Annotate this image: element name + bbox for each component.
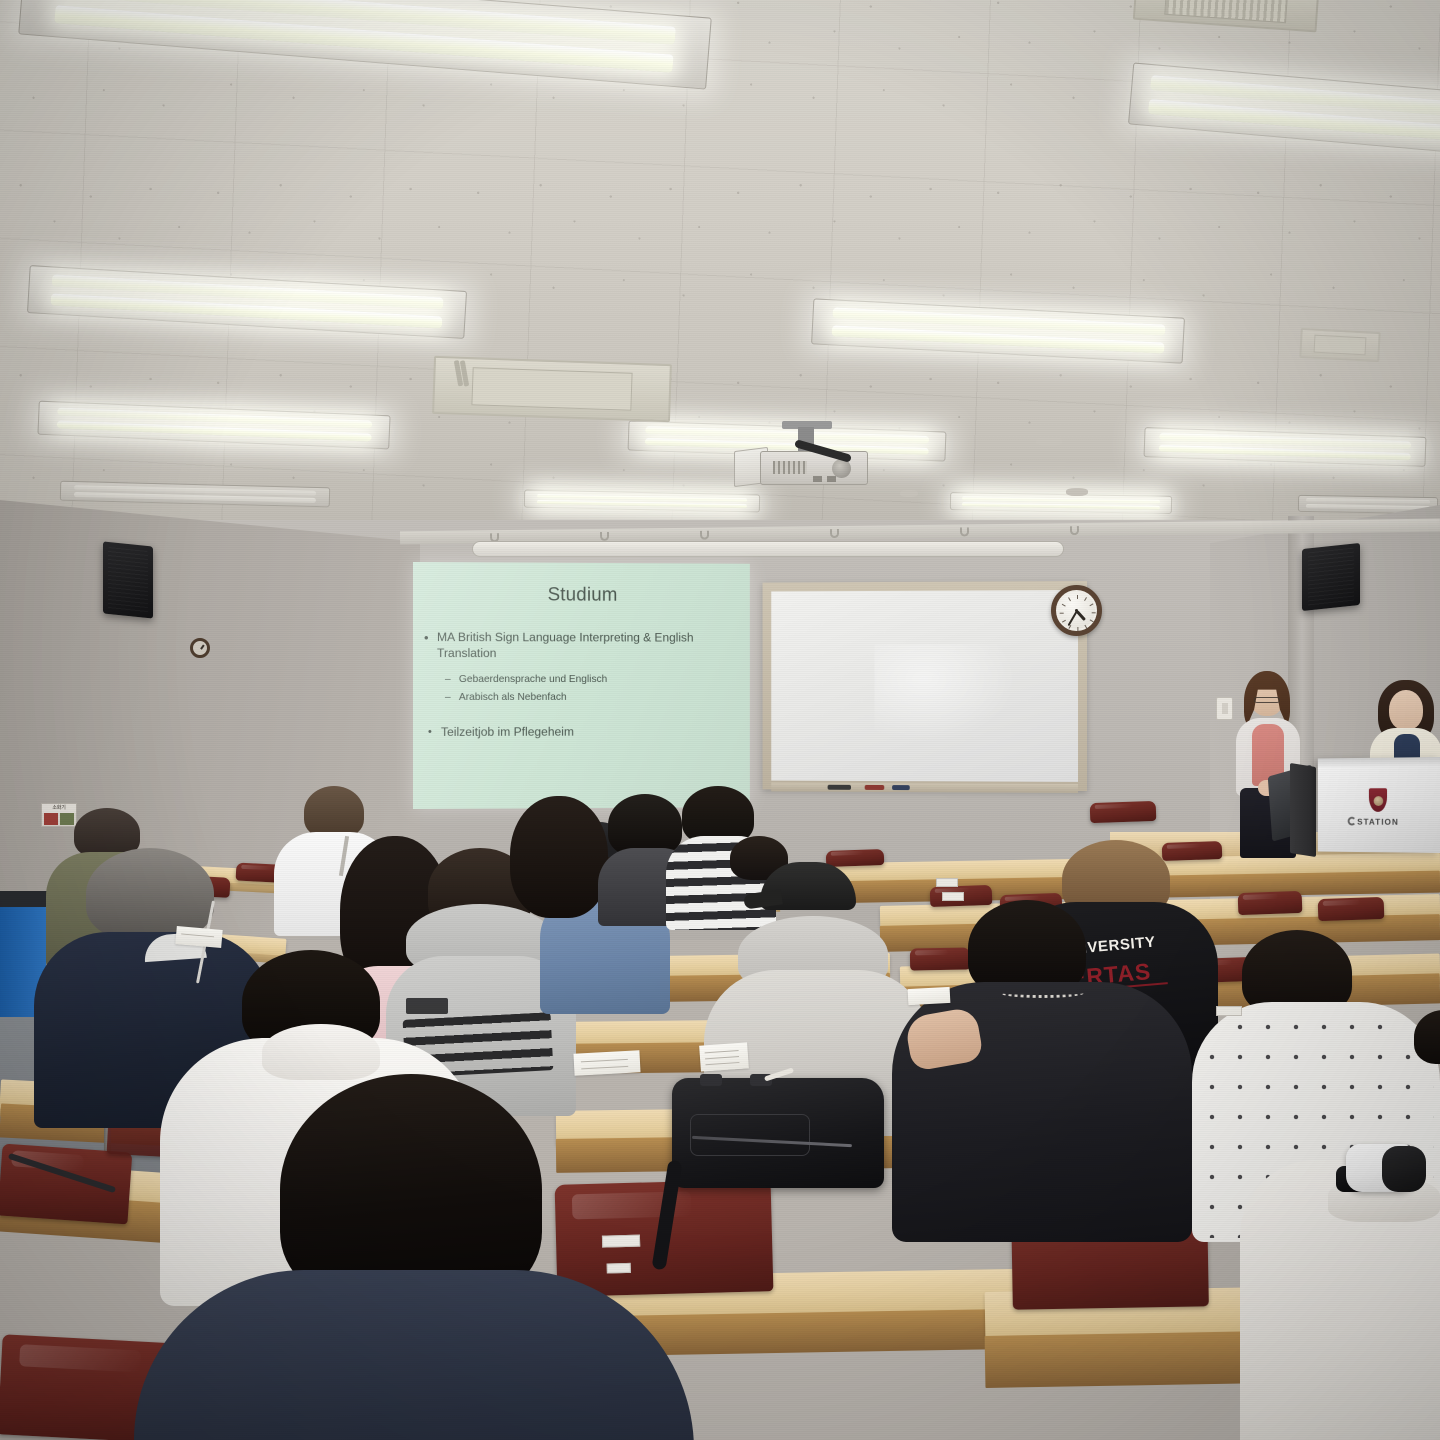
whiteboard-marker-tray	[771, 783, 1078, 793]
slide-subbullet-2-text: Arabisch als Nebenfach	[459, 692, 567, 703]
exit-arrow-icon	[60, 813, 74, 825]
projected-slide: Studium • MA British Sign Language Inter…	[413, 562, 750, 809]
desk-label-tag-3	[1216, 1006, 1242, 1016]
fire-extinguisher-sign: 소화기	[41, 803, 77, 827]
ceiling-sensor-3	[900, 490, 918, 497]
audience-hair-2	[86, 848, 214, 940]
necklace	[1000, 988, 1084, 998]
chair-far-2[interactable]	[1090, 801, 1157, 823]
ac-diffuser-1	[432, 356, 672, 422]
handout-paper-2[interactable]	[573, 1050, 640, 1075]
wall-outlet-1[interactable]	[1216, 697, 1233, 720]
projection-screen-housing[interactable]	[472, 541, 1064, 557]
podium[interactable]: STATION	[1318, 757, 1440, 853]
wall-speaker-right	[1302, 543, 1360, 611]
desk-label-tag-2	[942, 892, 964, 901]
backpack[interactable]	[672, 1078, 884, 1188]
bullet-marker-1: •	[424, 630, 429, 646]
vr-lens-housing	[1382, 1146, 1426, 1192]
chair-far-3[interactable]	[1162, 841, 1223, 861]
ceiling-light-10	[950, 492, 1172, 514]
ac-diffuser-3	[1299, 328, 1380, 362]
audience-hair-8	[608, 794, 682, 856]
chair-mid-4[interactable]	[910, 947, 970, 970]
whiteboard[interactable]	[763, 581, 1087, 791]
desk-label-tag-1	[936, 878, 958, 887]
slide-bullet-2-text: Teilzeitjob im Pflegeheim	[441, 725, 574, 739]
whiteboard-glare	[875, 644, 1016, 743]
handout-paper-4[interactable]	[908, 987, 951, 1005]
podium-presenter-head	[1389, 690, 1423, 730]
slide-bullet-2: • Teilzeitjob im Pflegeheim	[441, 725, 574, 739]
vr-headset[interactable]	[1330, 1138, 1438, 1216]
audience-hair-7	[510, 796, 608, 918]
slide-title: Studium	[413, 584, 750, 607]
wall-speaker-left	[103, 541, 153, 618]
clock-minute-hand	[1067, 610, 1077, 626]
handout-paper-1[interactable]	[699, 1042, 749, 1071]
slide-bullet-1-text: MA British Sign Language Interpreting & …	[437, 630, 694, 660]
projector-body	[760, 451, 868, 485]
chair-asset-tag-2	[607, 1263, 631, 1274]
hoodie-collar-15	[262, 1024, 380, 1080]
sub-marker-1: –	[445, 672, 451, 687]
backpack-buckle-1	[700, 1074, 722, 1086]
podium-logo-text: STATION	[1318, 817, 1440, 827]
university-crest-icon	[1368, 787, 1388, 813]
slide-bullet-1: • MA British Sign Language Interpreting …	[437, 629, 713, 661]
small-wall-clock-left	[190, 638, 210, 658]
marker-red[interactable]	[865, 785, 885, 790]
clock-face	[1058, 592, 1095, 629]
chair-far-6[interactable]	[1238, 891, 1303, 915]
presenter-glasses	[1254, 697, 1280, 703]
projector-vent	[773, 461, 807, 474]
marker-blue[interactable]	[892, 785, 910, 790]
audience-hair-18	[1414, 1010, 1440, 1064]
marker-black[interactable]	[828, 785, 851, 790]
ceiling-sensor-2	[1066, 488, 1088, 496]
fire-extinguisher-icon	[44, 813, 58, 825]
lecture-hall-photo: Studium • MA British Sign Language Inter…	[0, 0, 1440, 1440]
ceiling-sensor-1	[1036, 437, 1062, 446]
chair-far-7[interactable]	[1318, 897, 1385, 921]
backpack-pocket	[690, 1114, 810, 1156]
audience-hair-3	[304, 786, 364, 838]
sub-marker-2: –	[445, 690, 451, 705]
bullet-marker-2: •	[428, 726, 432, 738]
chair-far-1[interactable]	[826, 849, 885, 867]
slide-subbullet-1-text: Gebaerdensprache und Englisch	[459, 674, 607, 685]
hoodie-brand-text-5	[406, 998, 448, 1014]
podium-side-panel	[1290, 763, 1316, 857]
wall-clock: 4:35	[1051, 585, 1102, 636]
slide-subbullet-2: – Arabisch als Nebenfach	[459, 690, 567, 705]
slide-subbullet-1: – Gebaerdensprache und Englisch	[459, 672, 607, 687]
fire-extinguisher-sign-label: 소화기	[42, 804, 76, 813]
podium-top-lip	[1318, 757, 1440, 767]
whiteboard-surface[interactable]	[771, 590, 1078, 782]
chair-asset-tag-1	[602, 1235, 640, 1248]
trash-bin-lid	[0, 891, 51, 907]
